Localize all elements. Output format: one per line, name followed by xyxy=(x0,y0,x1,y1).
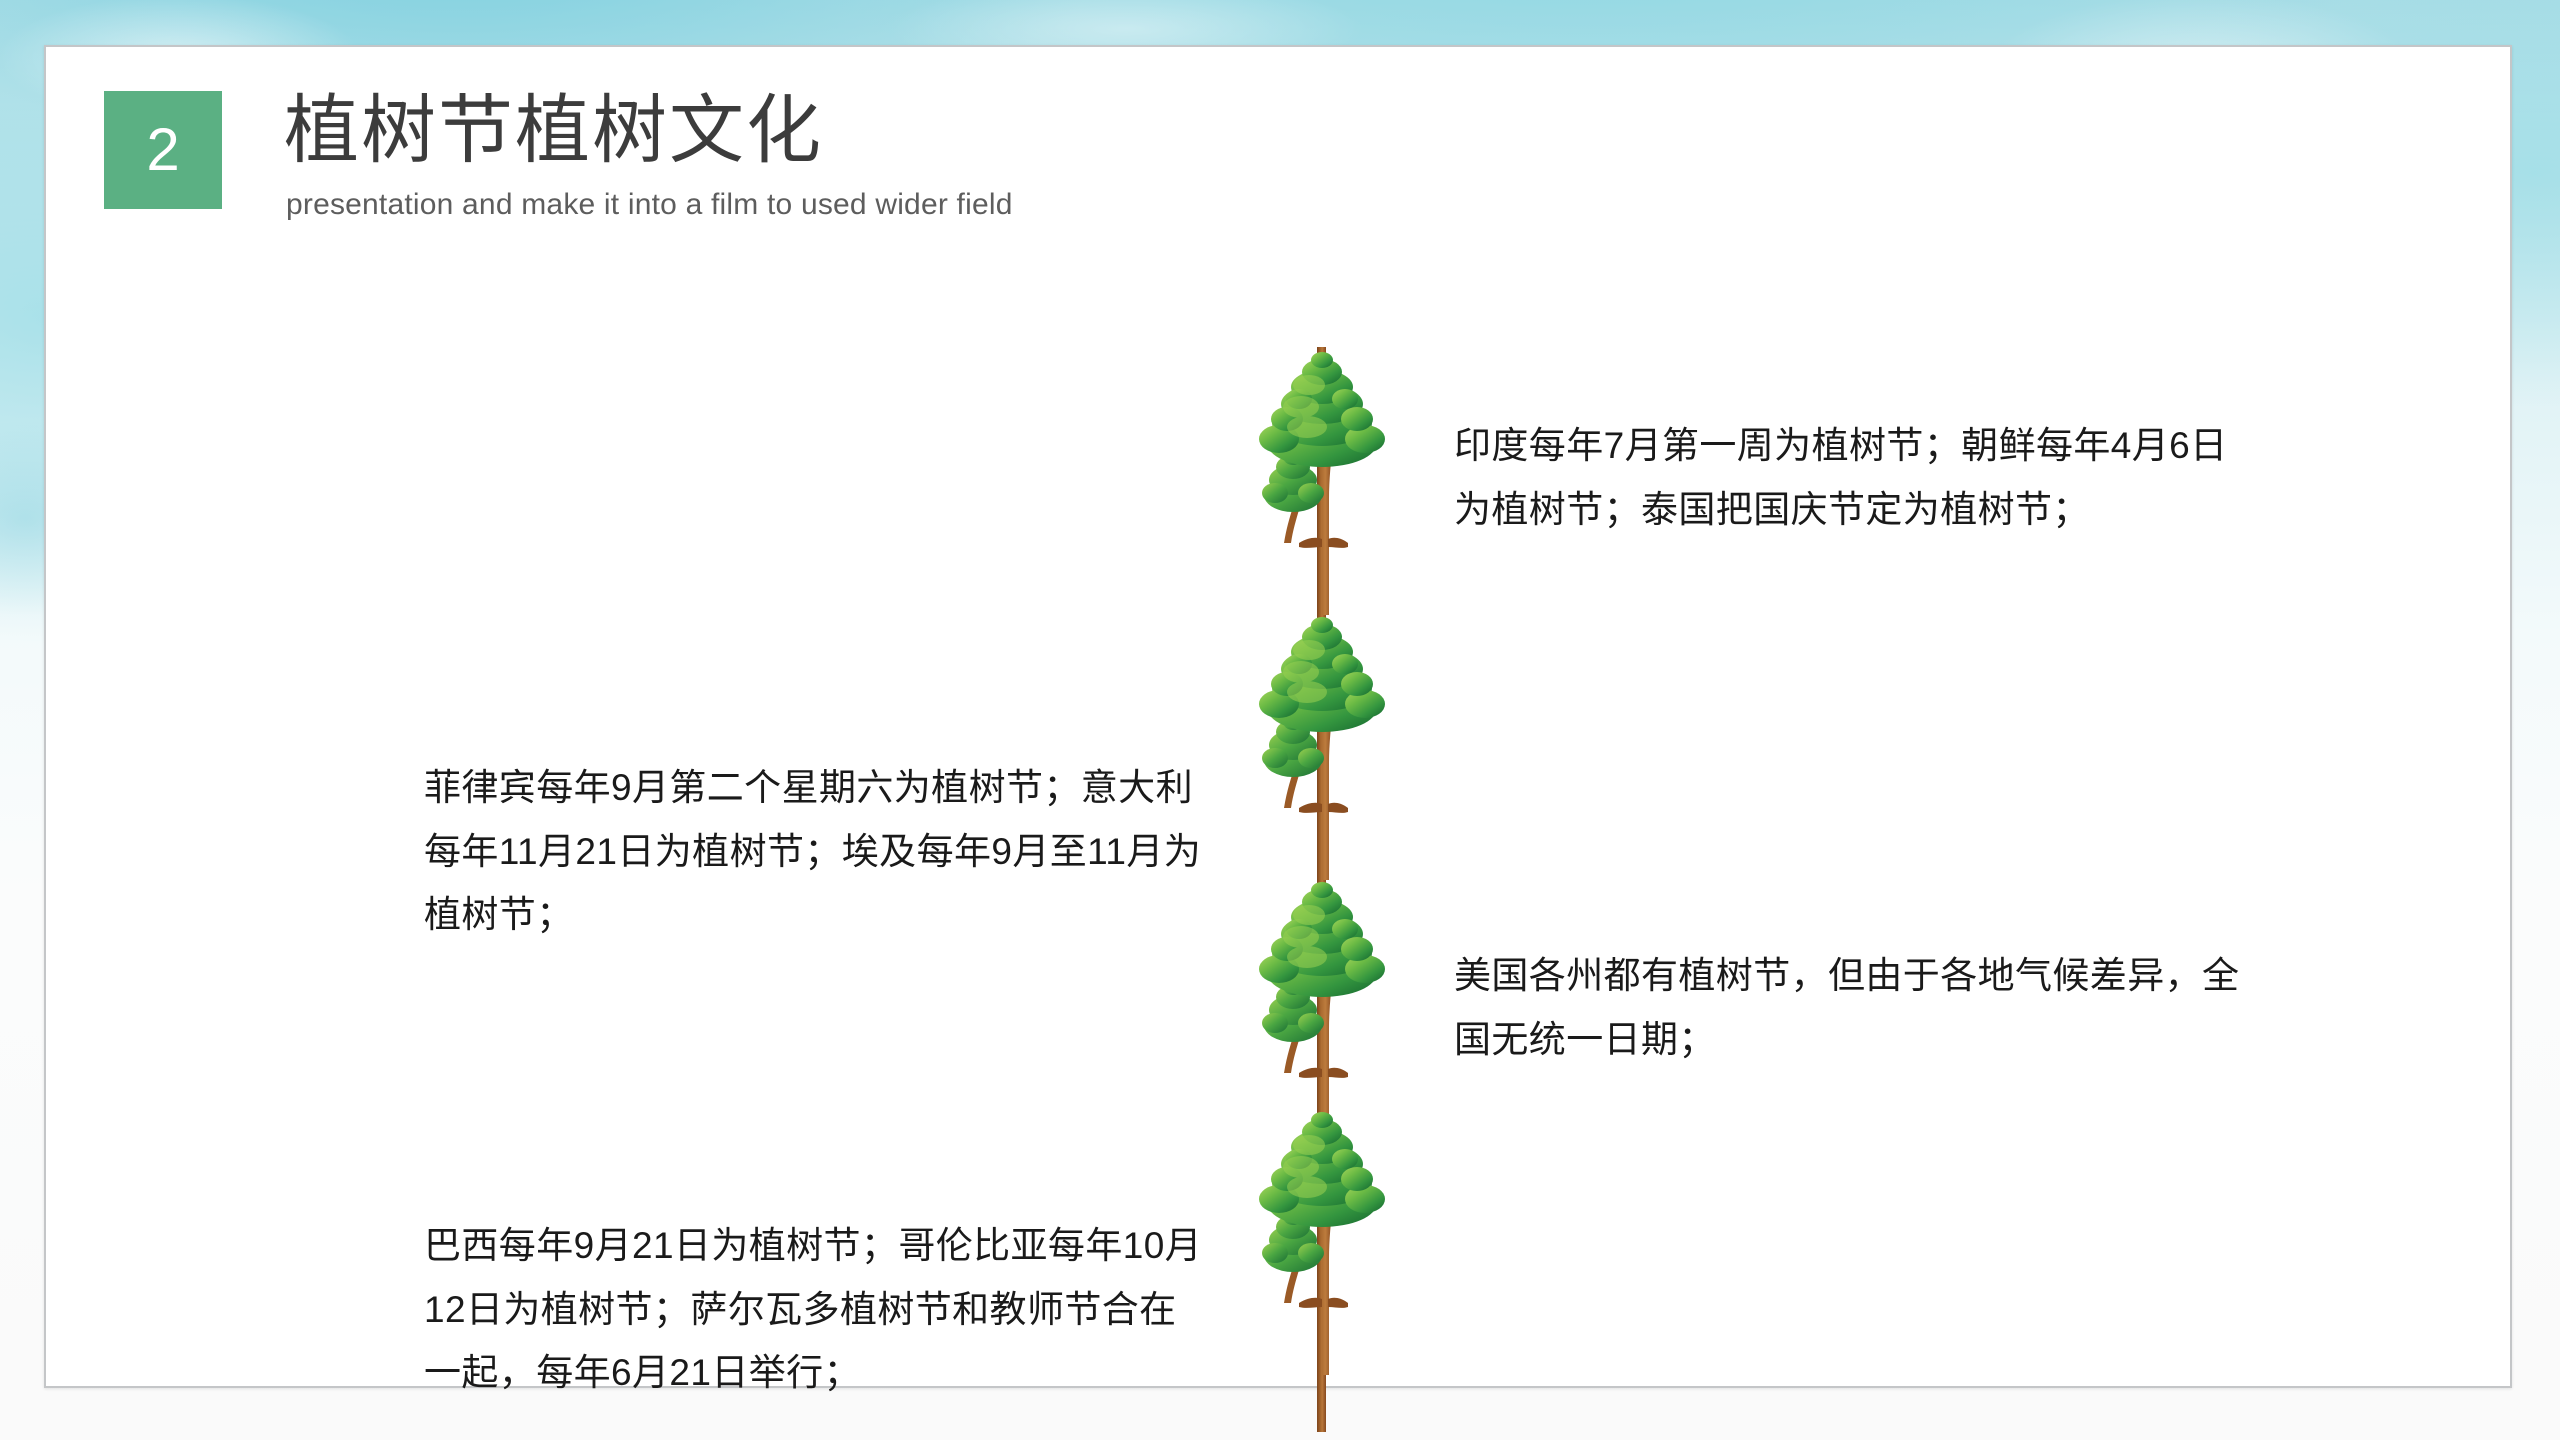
title-group: 植树节植树文化 presentation and make it into a … xyxy=(284,87,1013,222)
slide-root: 2 植树节植树文化 presentation and make it into … xyxy=(0,0,2560,1440)
slide-number-text: 2 xyxy=(146,120,179,180)
tree-decoration-column xyxy=(1221,347,1421,1432)
page-subtitle: presentation and make it into a film to … xyxy=(286,188,1013,222)
slide-number-badge: 2 xyxy=(104,91,222,209)
content-block-india: 印度每年7月第一周为植树节；朝鲜每年4月6日为植树节；泰国把国庆节定为植树节； xyxy=(1454,414,2244,541)
content-block-philippines: 菲律宾每年9月第二个星期六为植树节；意大利每年11月21日为植树节；埃及每年9月… xyxy=(424,756,1204,947)
tree-illustration-icon xyxy=(1221,347,1421,637)
content-block-brazil: 巴西每年9月21日为植树节；哥伦比亚每年10月12日为植树节；萨尔瓦多植树节和教… xyxy=(424,1214,1204,1405)
content-block-usa: 美国各州都有植树节，但由于各地气候差异，全国无统一日期； xyxy=(1454,944,2244,1071)
tree-illustration-icon xyxy=(1221,612,1421,902)
page-title: 植树节植树文化 xyxy=(284,87,1013,174)
tree-illustration-icon xyxy=(1221,1107,1421,1397)
slide-card: 2 植树节植树文化 presentation and make it into … xyxy=(44,45,2512,1388)
